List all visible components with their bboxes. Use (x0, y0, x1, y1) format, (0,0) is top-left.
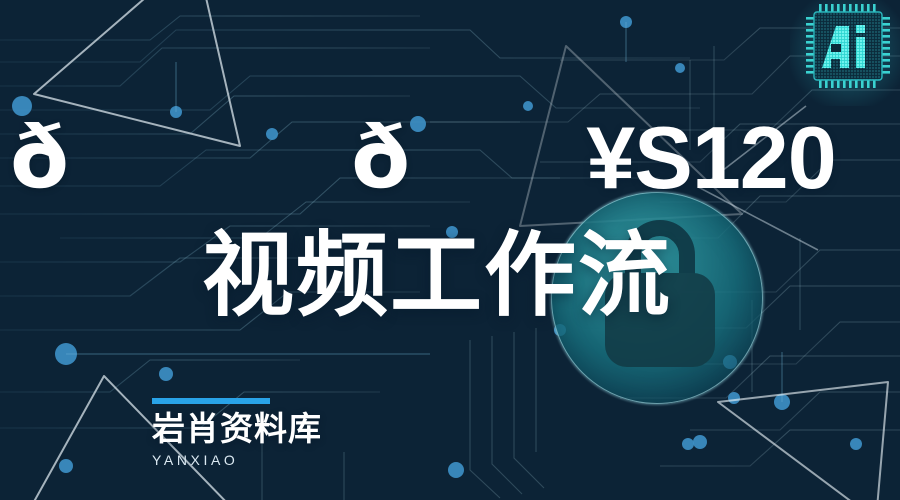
brand-name-cn: 岩肖资料库 (152, 411, 382, 447)
ai-processor-chip-icon (806, 4, 890, 88)
page-title: 视频工作流 (202, 228, 672, 325)
brand-accent-bar (152, 398, 270, 404)
promo-banner: ð ð ¥S120 视频工作流 岩肖资料库 YANXIAO (0, 0, 900, 500)
mojibake-glyph-2: ð (351, 115, 410, 201)
brand-name-en: YANXIAO (152, 453, 382, 467)
price-row: ð ð ¥S120 (0, 112, 900, 204)
brand-block: 岩肖资料库 YANXIAO (152, 398, 382, 467)
price-label: ¥S120 (586, 114, 835, 202)
mojibake-glyph-1: ð (10, 115, 69, 201)
